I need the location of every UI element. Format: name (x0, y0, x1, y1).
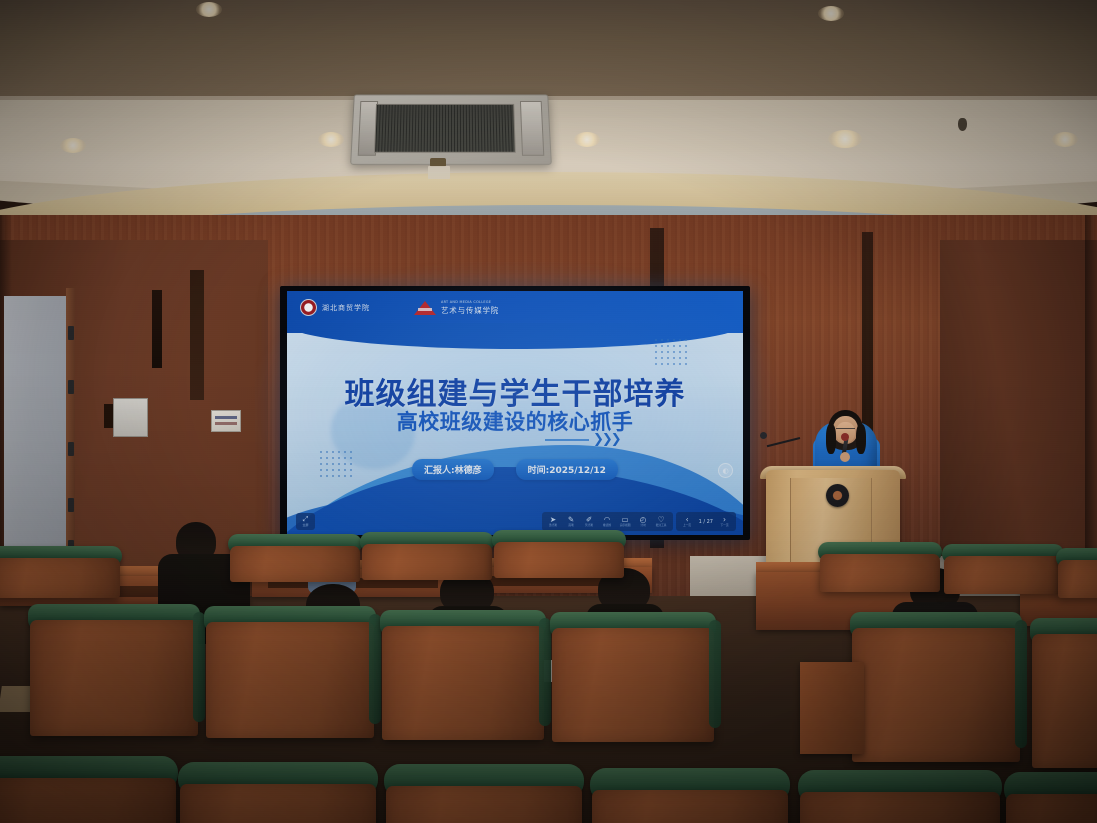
presenter-badge: 汇报人:林德彦 (412, 459, 494, 480)
university-emblem (826, 484, 849, 507)
door-hinge-icon (68, 498, 74, 512)
seat-mid-right-1[interactable] (852, 612, 1020, 762)
door-hinge-icon (68, 380, 74, 394)
wall-dark-beam (862, 232, 873, 432)
presentation-view-button[interactable]: ▭ 演示视图 (617, 516, 634, 527)
college-name-cn: 艺术与传媒学院 (441, 305, 499, 316)
seat-armrest-panel (800, 662, 864, 754)
date-badge: 时间:2025/12/12 (516, 459, 618, 480)
seat-front-5[interactable] (800, 770, 1000, 823)
presenter-hand (840, 452, 850, 462)
pen-label: 画笔 (568, 524, 573, 527)
presentation-view-label: 演示视图 (620, 524, 631, 527)
wall-curtain-strip (190, 270, 204, 400)
timer-button[interactable]: ◴ 计时 (635, 516, 652, 527)
university-name: 湖北商贸学院 (322, 303, 370, 313)
fullscreen-label: 全屏 (302, 524, 308, 527)
laser-pointer-button[interactable]: ➤ 激光笔 (545, 516, 562, 527)
door-hinge-icon (68, 442, 74, 456)
seat-back-right-2[interactable] (944, 544, 1062, 594)
college-name-en: ART AND MEDIA COLLEGE (441, 300, 499, 304)
wall-notice-sign (211, 410, 241, 432)
slide-subtitle: 高校班级建设的核心抓手 (287, 406, 743, 436)
seat-back-1[interactable] (0, 546, 120, 598)
seat-mid-4[interactable] (552, 612, 714, 742)
annotation-label: 批注工具 (656, 524, 667, 527)
pen-button[interactable]: ✎ 画笔 (563, 516, 580, 527)
prev-slide-button[interactable]: ‹ 上一页 (679, 516, 696, 527)
seat-mid-right-2[interactable] (1032, 618, 1097, 768)
share-icon[interactable]: ◐ (718, 463, 733, 478)
seat-front-2[interactable] (180, 762, 376, 823)
slide-badge-row: 汇报人:林德彦 时间:2025/12/12 (287, 459, 743, 480)
highlighter-button[interactable]: ✐ 荧光笔 (581, 516, 598, 527)
slide-divider-line (545, 439, 589, 441)
microphone-icon (760, 432, 767, 439)
seat-back-2[interactable] (230, 534, 360, 582)
next-slide-label: 下一页 (720, 524, 728, 527)
seat-back-right-3[interactable] (1058, 548, 1097, 598)
presenter-toolbar[interactable]: ➤ 激光笔 ✎ 画笔 ✐ 荧光笔 ◠ 橡皮擦 ▭ 演示视图 (542, 512, 736, 531)
wall-vertical-strip (152, 290, 162, 368)
mountain-triangle-icon (414, 301, 436, 315)
toolbar-nav-group: ‹ 上一页 1 / 27 › 下一页 (676, 512, 736, 531)
seat-mid-1[interactable] (30, 604, 198, 736)
slide-logo-row: 湖北商贸学院 ART AND MEDIA COLLEGE 艺术与传媒学院 (300, 299, 499, 316)
seat-mid-2[interactable] (206, 606, 374, 738)
slide-dot-grid-top-right (655, 339, 687, 365)
seat-front-6[interactable] (1006, 772, 1097, 823)
prev-slide-label: 上一页 (683, 524, 691, 527)
next-slide-button[interactable]: › 下一页 (716, 516, 733, 527)
downlight (318, 132, 344, 147)
eraser-button[interactable]: ◠ 橡皮擦 (599, 516, 616, 527)
laser-pointer-label: 激光笔 (549, 524, 557, 527)
downlight (1052, 132, 1078, 147)
seat-front-1[interactable] (0, 756, 176, 823)
downlight (574, 132, 600, 147)
highlighter-label: 荧光笔 (585, 524, 593, 527)
downlight (60, 138, 86, 153)
ceiling-sensor-icon (958, 118, 967, 131)
shield-icon (300, 299, 317, 316)
entrance-door[interactable] (4, 296, 75, 556)
presenter-hair-left (826, 424, 836, 454)
chevrons-icon: ❯❯❯ (593, 432, 620, 447)
door-hinge-icon (68, 326, 74, 340)
lecture-hall-scene: 湖北商贸学院 ART AND MEDIA COLLEGE 艺术与传媒学院 班级组… (0, 0, 1097, 823)
seat-back-right-1[interactable] (820, 542, 940, 592)
seat-mid-3[interactable] (382, 610, 544, 740)
microphone-head-icon (841, 433, 849, 441)
expand-icon: ⤢ (303, 516, 309, 523)
college-logo: ART AND MEDIA COLLEGE 艺术与传媒学院 (414, 300, 499, 316)
ceiling-ac-unit-icon (350, 94, 552, 164)
timer-label: 计时 (640, 524, 645, 527)
toolbar-tools-group: ➤ 激光笔 ✎ 画笔 ✐ 荧光笔 ◠ 橡皮擦 ▭ 演示视图 (542, 512, 673, 531)
seat-front-3[interactable] (386, 764, 582, 823)
ac-label-tag (428, 166, 450, 179)
university-crest-logo: 湖北商贸学院 (300, 299, 370, 316)
seat-back-4[interactable] (494, 530, 624, 578)
page-indicator: 1 / 27 (697, 519, 715, 525)
fullscreen-button[interactable]: ⤢ 全屏 (296, 513, 315, 530)
downlight (828, 130, 862, 148)
seat-back-3[interactable] (362, 532, 492, 580)
downlight (196, 2, 222, 17)
eraser-label: 橡皮擦 (603, 524, 611, 527)
seat-front-4[interactable] (592, 768, 788, 823)
wall-control-panel[interactable] (113, 398, 148, 437)
annotation-button[interactable]: ♡ 批注工具 (653, 516, 670, 527)
presenter-hair-right (856, 424, 866, 454)
led-screen[interactable]: 湖北商贸学院 ART AND MEDIA COLLEGE 艺术与传媒学院 班级组… (287, 291, 743, 535)
downlight (818, 6, 844, 21)
